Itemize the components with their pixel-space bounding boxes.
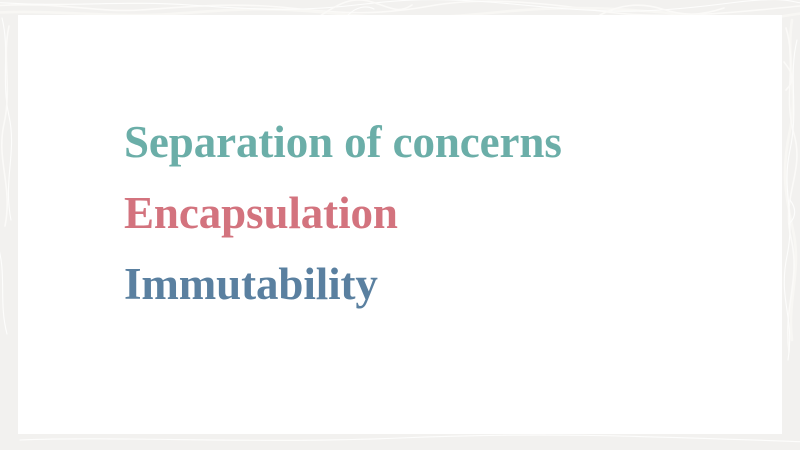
heading-separation-of-concerns: Separation of concerns bbox=[124, 107, 562, 178]
presentation-slide: Separation of concerns Encapsulation Imm… bbox=[0, 0, 800, 450]
principles-list: Separation of concerns Encapsulation Imm… bbox=[124, 107, 562, 320]
heading-encapsulation: Encapsulation bbox=[124, 178, 562, 249]
heading-immutability: Immutability bbox=[124, 249, 562, 320]
